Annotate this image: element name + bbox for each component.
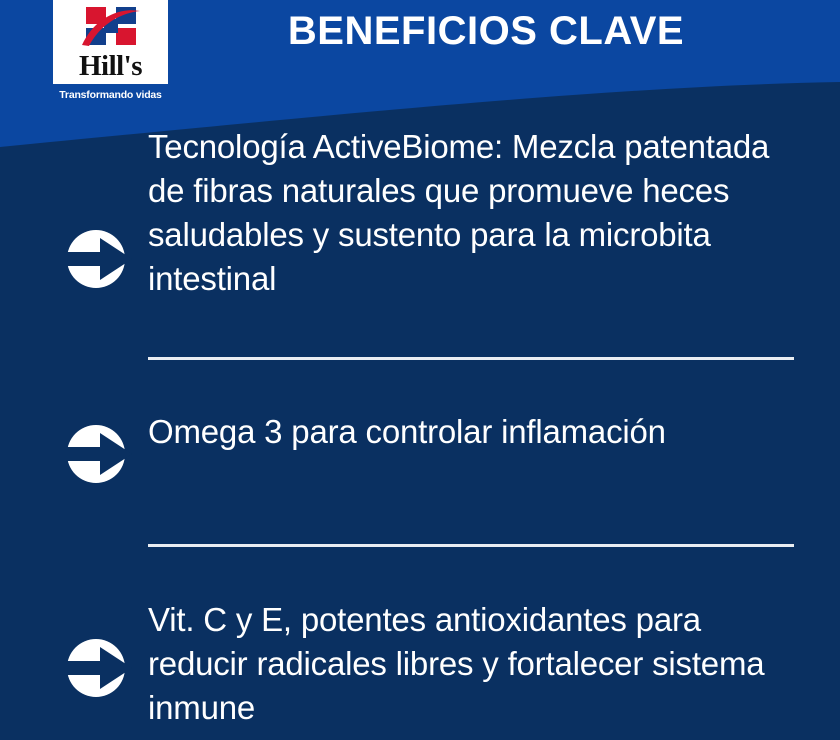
arrow-right-circle-icon bbox=[62, 634, 134, 702]
page-title: BENEFICIOS CLAVE bbox=[236, 9, 736, 54]
benefit-text-3: Vit. C y E, potentes antioxidantes para … bbox=[148, 598, 803, 730]
divider-2 bbox=[148, 544, 794, 547]
logo-wordmark: Hill's bbox=[53, 51, 168, 81]
benefit-text-1: Tecnología ActiveBiome: Mezcla patentada… bbox=[148, 125, 803, 301]
arrow-right-circle-icon bbox=[62, 420, 134, 488]
brand-logo: Hill's Transformando vidas bbox=[53, 0, 168, 101]
arrow-right-circle-icon bbox=[62, 225, 134, 293]
hills-h-mark-icon bbox=[80, 5, 142, 47]
logo-box: Hill's bbox=[53, 0, 168, 84]
benefit-text-2: Omega 3 para controlar inflamación bbox=[148, 410, 803, 454]
logo-tagline: Transformando vidas bbox=[53, 89, 168, 101]
divider-1 bbox=[148, 357, 794, 360]
beneficios-clave-slide: Hill's Transformando vidas BENEFICIOS CL… bbox=[0, 0, 840, 740]
